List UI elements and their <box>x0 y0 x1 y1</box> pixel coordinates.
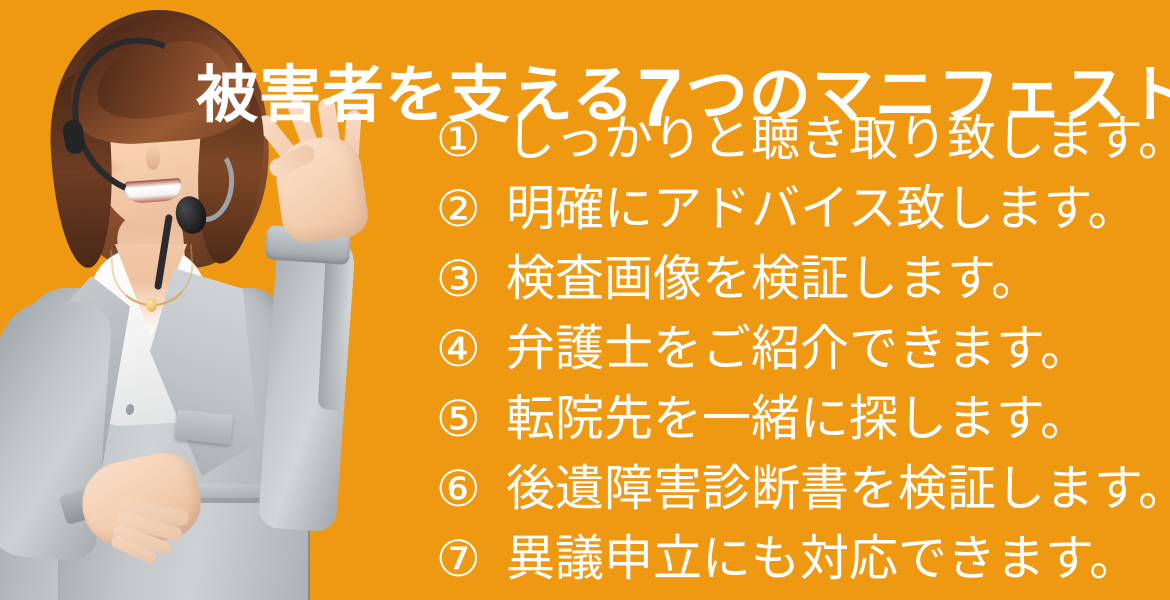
list-item-marker: ③ <box>436 254 506 304</box>
list-item-marker: ⑤ <box>436 394 506 444</box>
list-item-label: 異議申立にも対応できます。 <box>506 535 1138 584</box>
list-item: ② 明確にアドバイス致します。 <box>436 174 1170 244</box>
list-item: ⑥ 後遺障害診断書を検証します。 <box>436 454 1170 524</box>
list-item-label: 後遺障害診断書を検証します。 <box>506 465 1170 514</box>
manifesto-banner: 被害者を支える7つのマニフェスト ① しっかりと聴き取り致します。 ② 明確にア… <box>0 0 1170 600</box>
list-item: ④ 弁護士をご紹介できます。 <box>436 314 1170 384</box>
list-item-label: 検査画像を検証します。 <box>506 255 1040 304</box>
list-item: ⑦ 異議申立にも対応できます。 <box>436 524 1170 594</box>
list-item-marker: ④ <box>436 324 506 374</box>
list-item-label: 明確にアドバイス致します。 <box>506 185 1137 234</box>
banner-content: 被害者を支える7つのマニフェスト ① しっかりと聴き取り致します。 ② 明確にア… <box>0 0 1170 600</box>
list-item-marker: ② <box>436 184 506 234</box>
list-item: ⑤ 転院先を一緒に探します。 <box>436 384 1170 454</box>
list-item-marker: ① <box>436 114 506 164</box>
list-item-label: 転院先を一緒に探します。 <box>506 395 1089 444</box>
list-item-marker: ⑦ <box>436 534 506 584</box>
list-item: ③ 検査画像を検証します。 <box>436 244 1170 314</box>
list-item: ① しっかりと聴き取り致します。 <box>436 104 1170 174</box>
list-item-marker: ⑥ <box>436 464 506 514</box>
list-item-label: しっかりと聴き取り致します。 <box>506 115 1170 164</box>
manifesto-list: ① しっかりと聴き取り致します。 ② 明確にアドバイス致します。 ③ 検査画像を… <box>436 104 1170 594</box>
list-item-label: 弁護士をご紹介できます。 <box>506 325 1089 374</box>
